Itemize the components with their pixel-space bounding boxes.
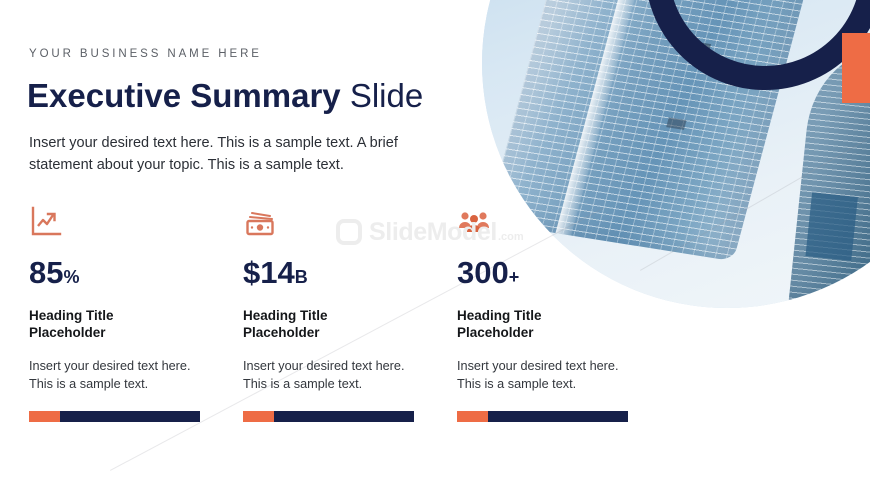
window-detail	[666, 117, 686, 130]
stat-value-suffix: B	[295, 267, 308, 287]
stat-description: Insert your desired text here. This is a…	[29, 357, 199, 393]
stat-card: 300+ Heading Title Placeholder Insert yo…	[457, 205, 662, 393]
stat-value-suffix: +	[509, 267, 520, 287]
business-name-kicker: YOUR BUSINESS NAME HERE	[29, 48, 262, 60]
stat-card: 85% Heading Title Placeholder Insert you…	[29, 205, 234, 393]
orange-square-accent	[842, 33, 870, 103]
stat-value-main: 85	[29, 255, 63, 290]
progress-bar	[29, 411, 200, 422]
building-edge-highlight	[555, 0, 685, 236]
page-subtitle: Insert your desired text here. This is a…	[29, 132, 454, 176]
progress-bar-track	[274, 411, 414, 422]
progress-bar-accent	[243, 411, 274, 422]
stat-heading: Heading Title Placeholder	[29, 307, 179, 341]
progress-bar-track	[488, 411, 628, 422]
stat-heading: Heading Title Placeholder	[457, 307, 607, 341]
page-title: Executive Summary Slide	[27, 76, 423, 116]
progress-bar	[457, 411, 628, 422]
stat-value: 85%	[29, 257, 234, 293]
stat-value-main: 300	[457, 255, 509, 290]
window-detail	[696, 42, 711, 56]
stat-value: $14B	[243, 257, 448, 293]
page-title-bold: Executive Summary	[27, 77, 341, 114]
people-group-icon	[457, 205, 491, 239]
money-cash-icon	[243, 205, 277, 239]
stat-value-suffix: %	[63, 267, 79, 287]
progress-bar	[243, 411, 414, 422]
stat-card: $14B Heading Title Placeholder Insert yo…	[243, 205, 448, 393]
progress-bar-accent	[29, 411, 60, 422]
progress-bar-track	[60, 411, 200, 422]
navy-ring-arc	[645, 0, 870, 90]
stat-heading: Heading Title Placeholder	[243, 307, 393, 341]
page-title-light: Slide	[350, 77, 423, 114]
stat-description: Insert your desired text here. This is a…	[243, 357, 413, 393]
growth-chart-icon	[29, 205, 63, 239]
slide-canvas: YOUR BUSINESS NAME HERE Executive Summar…	[0, 0, 870, 489]
progress-bar-accent	[457, 411, 488, 422]
stats-row: 85% Heading Title Placeholder Insert you…	[0, 205, 870, 445]
stat-value: 300+	[457, 257, 662, 293]
stat-value-main: $14	[243, 255, 295, 290]
stat-description: Insert your desired text here. This is a…	[457, 357, 627, 393]
